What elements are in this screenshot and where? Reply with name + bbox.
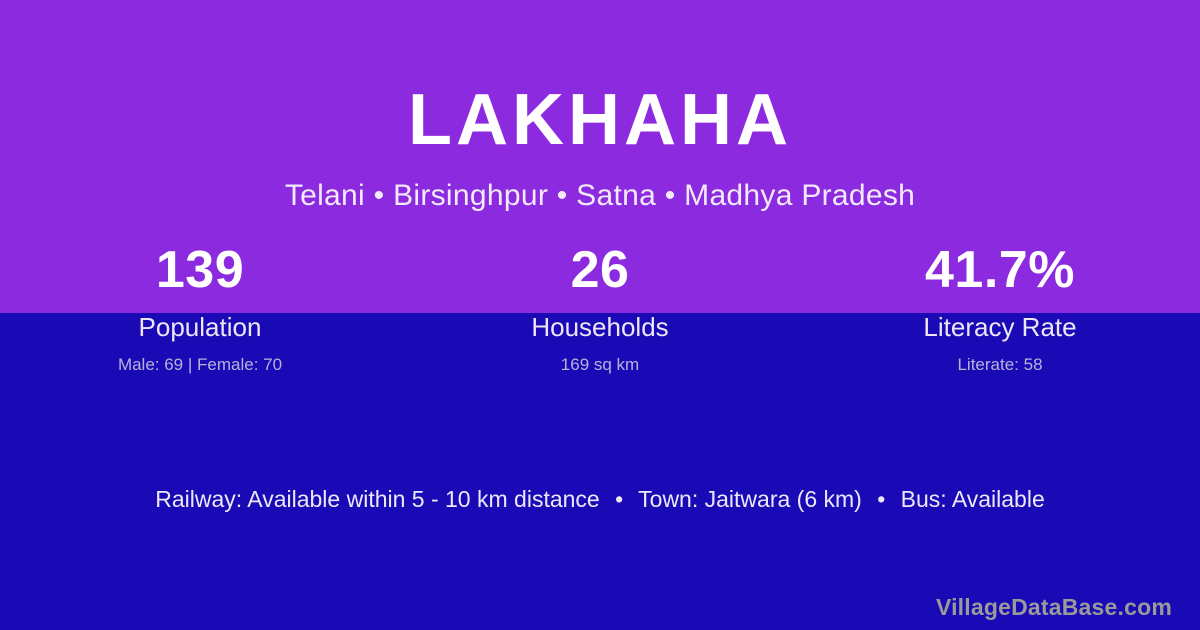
stat-population: 139 Population Male: 69 | Female: 70 <box>0 244 400 373</box>
amenity-separator: • <box>606 486 632 512</box>
stat-label: Population <box>0 314 400 340</box>
amenities-line: Railway: Available within 5 - 10 km dist… <box>0 486 1200 514</box>
stat-value: 139 <box>0 244 400 296</box>
stat-label: Literacy Rate <box>800 314 1200 340</box>
stat-households: 26 Households 169 sq km <box>400 244 800 373</box>
amenity-railway: Railway: Available within 5 - 10 km dist… <box>155 486 599 512</box>
stat-value: 41.7% <box>800 244 1200 296</box>
stat-literacy-rate: 41.7% Literacy Rate Literate: 58 <box>800 244 1200 373</box>
stat-label: Households <box>400 314 800 340</box>
stat-sublabel: 169 sq km <box>400 356 800 373</box>
site-watermark: VillageDataBase.com <box>936 596 1172 619</box>
page-title: LAKHAHA <box>0 0 1200 156</box>
amenity-separator: • <box>868 486 894 512</box>
village-info-card: LAKHAHA Telani • Birsinghpur • Satna • M… <box>0 0 1200 630</box>
stat-value: 26 <box>400 244 800 296</box>
breadcrumb: Telani • Birsinghpur • Satna • Madhya Pr… <box>0 156 1200 214</box>
stat-sublabel: Male: 69 | Female: 70 <box>0 356 400 373</box>
stats-row: 139 Population Male: 69 | Female: 70 26 … <box>0 244 1200 373</box>
card-header: LAKHAHA Telani • Birsinghpur • Satna • M… <box>0 0 1200 214</box>
stat-sublabel: Literate: 58 <box>800 356 1200 373</box>
amenity-bus: Bus: Available <box>901 486 1045 512</box>
amenity-town: Town: Jaitwara (6 km) <box>638 486 862 512</box>
